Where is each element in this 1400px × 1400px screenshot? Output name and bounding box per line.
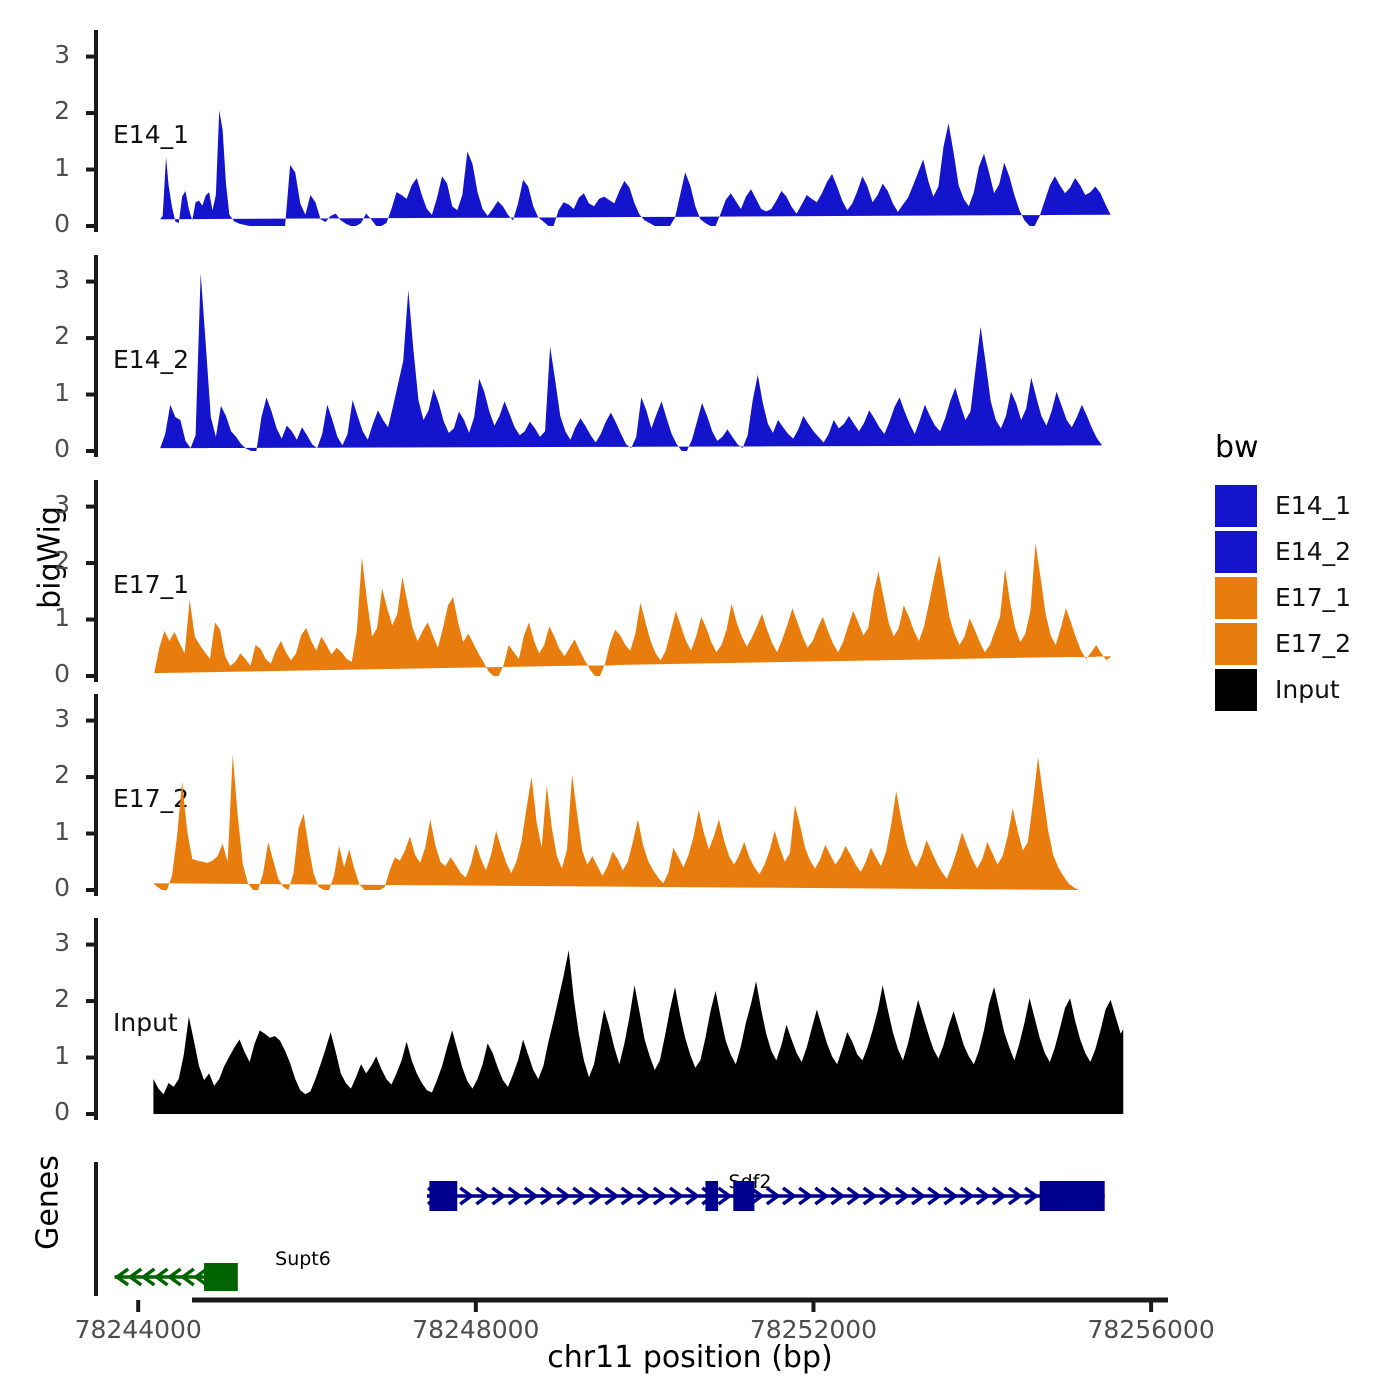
gene-arrow-sdf2-5	[509, 1188, 520, 1204]
legend-swatch-e14-2	[1215, 531, 1257, 573]
gene-arrow-sdf2-3	[476, 1188, 487, 1204]
gene-arrow-sdf2-15	[670, 1188, 681, 1204]
gene-arrow-supt6-3	[157, 1269, 168, 1285]
y-tick-label-1-2: 2	[30, 321, 70, 350]
y-tick-label-4-1: 1	[30, 1041, 70, 1070]
panel-label-e14-2: E14_2	[113, 345, 189, 374]
track-area-e14-1	[160, 110, 1110, 226]
gene-arrow-sdf2-9	[573, 1188, 584, 1204]
x-tick-label-0: 78244000	[28, 1315, 248, 1344]
gene-arrow-sdf2-13	[638, 1188, 649, 1204]
y-tick-label-2-1: 1	[30, 603, 70, 632]
y-tick-label-2-3: 3	[30, 490, 70, 519]
gene-arrow-sdf2-38	[1041, 1188, 1052, 1204]
y-tick-label-2-2: 2	[30, 546, 70, 575]
gene-arrow-supt6-0	[117, 1269, 128, 1285]
gene-arrow-sdf2-0	[428, 1188, 439, 1204]
y-tick-label-0-1: 1	[30, 153, 70, 182]
gene-arrow-sdf2-11	[605, 1188, 616, 1204]
legend-label-e14-2: E14_2	[1275, 537, 1351, 566]
track-area-e17-2	[153, 754, 1078, 890]
gene-arrow-sdf2-27	[864, 1188, 875, 1204]
gene-exon-sdf2-3	[1040, 1181, 1105, 1211]
gene-arrow-supt6-6	[196, 1269, 207, 1285]
gene-exon-supt6-0	[204, 1263, 238, 1291]
gene-arrow-sdf2-12	[622, 1188, 633, 1204]
legend-label-input: Input	[1275, 675, 1340, 704]
track-area-e14-2	[160, 273, 1102, 451]
y-tick-label-1-3: 3	[30, 265, 70, 294]
legend-swatch-e17-1	[1215, 577, 1257, 619]
gene-supt6[interactable]	[115, 1263, 238, 1291]
y-tick-label-0-2: 2	[30, 96, 70, 125]
series-group	[153, 110, 1123, 1114]
y-tick-label-1-1: 1	[30, 378, 70, 407]
panel-label-e17-2: E17_2	[113, 784, 189, 813]
gene-arrow-sdf2-33	[961, 1188, 972, 1204]
gene-arrow-sdf2-1	[444, 1188, 455, 1204]
gene-arrow-sdf2-36	[1009, 1188, 1020, 1204]
legend-label-e14-1: E14_1	[1275, 491, 1351, 520]
gene-arrow-supt6-1	[130, 1269, 141, 1285]
gene-arrow-sdf2-30	[912, 1188, 923, 1204]
x-axis-title: chr11 position (bp)	[200, 1340, 1180, 1375]
y-tick-label-2-0: 0	[30, 659, 70, 688]
gene-arrow-sdf2-29	[896, 1188, 907, 1204]
gene-arrow-sdf2-35	[993, 1188, 1004, 1204]
gene-label-sdf2: Sdf2	[700, 1171, 800, 1193]
panel-label-e14-1: E14_1	[113, 120, 189, 149]
gene-arrow-sdf2-39	[1057, 1188, 1068, 1204]
y-axis-title-genes: Genes	[31, 1133, 66, 1273]
gene-arrow-sdf2-24	[815, 1188, 826, 1204]
gene-arrow-sdf2-41	[1090, 1188, 1101, 1204]
x-tick-label-3: 78256000	[1041, 1315, 1261, 1344]
y-tick-label-3-1: 1	[30, 817, 70, 846]
y-tick-label-4-3: 3	[30, 928, 70, 957]
gene-arrow-sdf2-16	[686, 1188, 697, 1204]
legend-swatch-e17-2	[1215, 623, 1257, 665]
x-tick-label-2: 78252000	[703, 1315, 923, 1344]
gene-arrow-supt6-8	[222, 1269, 233, 1285]
gene-arrow-sdf2-32	[944, 1188, 955, 1204]
gene-arrow-sdf2-7	[541, 1188, 552, 1204]
gene-label-supt6: Supt6	[248, 1248, 358, 1270]
legend-swatch-input	[1215, 669, 1257, 711]
legend-label-e17-1: E17_1	[1275, 583, 1351, 612]
gene-arrow-sdf2-37	[1025, 1188, 1036, 1204]
y-tick-label-0-3: 3	[30, 40, 70, 69]
genes-group	[115, 1181, 1105, 1291]
gene-arrow-sdf2-34	[977, 1188, 988, 1204]
gene-arrow-sdf2-25	[831, 1188, 842, 1204]
x-tick-label-1: 78248000	[366, 1315, 586, 1344]
gene-arrow-sdf2-8	[557, 1188, 568, 1204]
legend-title: bw	[1215, 430, 1259, 465]
panel-label-e17-1: E17_1	[113, 570, 189, 599]
gene-arrow-sdf2-2	[460, 1188, 471, 1204]
gene-arrow-sdf2-6	[525, 1188, 536, 1204]
y-tick-label-3-0: 0	[30, 873, 70, 902]
legend-swatch-e14-1	[1215, 485, 1257, 527]
gene-exon-sdf2-0	[429, 1181, 457, 1211]
y-tick-label-3-2: 2	[30, 760, 70, 789]
gene-arrow-sdf2-28	[880, 1188, 891, 1204]
axes-group	[86, 30, 1168, 1312]
gene-arrow-sdf2-14	[654, 1188, 665, 1204]
gene-arrow-sdf2-26	[848, 1188, 859, 1204]
y-tick-label-1-0: 0	[30, 434, 70, 463]
legend-label-e17-2: E17_2	[1275, 629, 1351, 658]
gene-arrow-supt6-7	[209, 1269, 220, 1285]
panel-label-input: Input	[113, 1008, 178, 1037]
track-area-input	[153, 950, 1123, 1114]
gene-arrow-sdf2-40	[1073, 1188, 1084, 1204]
y-tick-label-4-0: 0	[30, 1097, 70, 1126]
gene-arrow-supt6-5	[183, 1269, 194, 1285]
y-tick-label-4-2: 2	[30, 984, 70, 1013]
y-tick-label-0-0: 0	[30, 209, 70, 238]
gene-arrow-sdf2-4	[493, 1188, 504, 1204]
gene-arrow-sdf2-31	[928, 1188, 939, 1204]
track-area-e17-1	[154, 543, 1111, 676]
y-tick-label-3-3: 3	[30, 704, 70, 733]
gene-arrow-sdf2-23	[799, 1188, 810, 1204]
gene-arrow-supt6-2	[143, 1269, 154, 1285]
gene-arrow-supt6-4	[170, 1269, 181, 1285]
gene-arrow-sdf2-10	[589, 1188, 600, 1204]
